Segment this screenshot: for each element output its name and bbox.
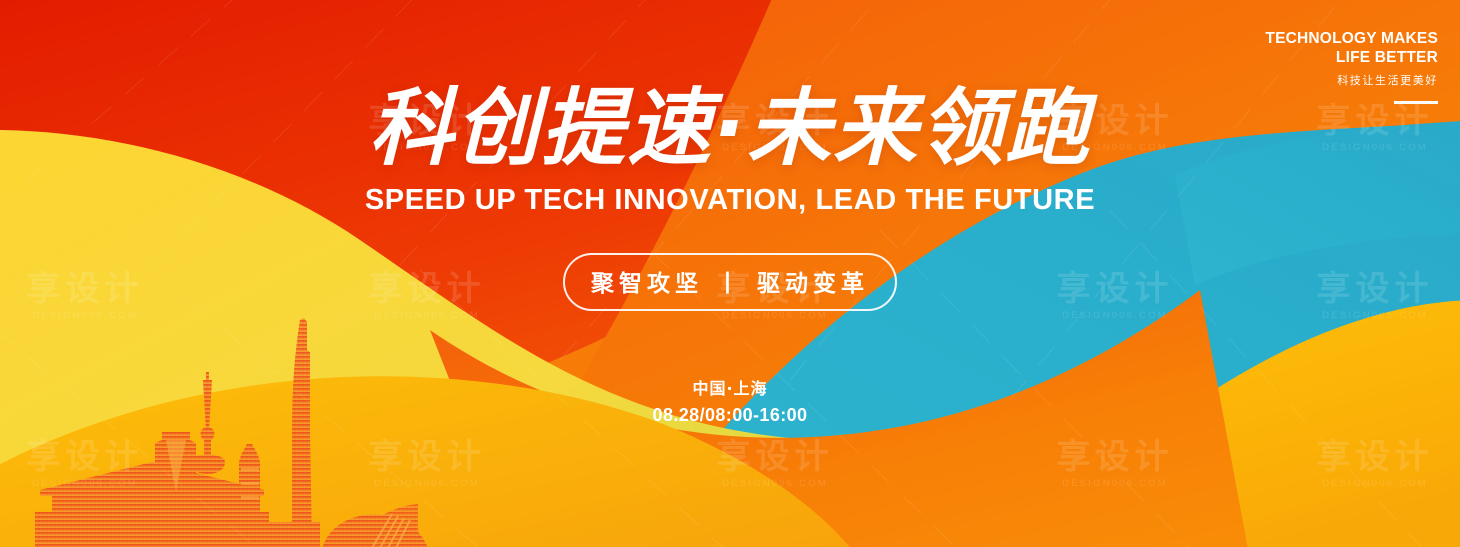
promo-poster: 享设计 DESIGN006.COM 享设计 DESIGN006.COM 享设计 … <box>0 0 1460 547</box>
page-title: 科创提速·未来领跑 <box>0 86 1460 172</box>
event-meta: 中国·上海 08.28/08:00-16:00 <box>0 377 1460 428</box>
brand-tagline-line1: TECHNOLOGY MAKES <box>1265 30 1438 49</box>
page-subtitle: SPEED UP TECH INNOVATION, LEAD THE FUTUR… <box>0 184 1460 217</box>
brand-tagline-line2: LIFE BETTER <box>1265 49 1438 68</box>
event-datetime: 08.28/08:00-16:00 <box>0 402 1460 428</box>
event-location: 中国·上海 <box>0 377 1460 400</box>
headline-block: 科创提速·未来领跑 SPEED UP TECH INNOVATION, LEAD… <box>0 86 1460 428</box>
slogan-pill: 聚智攻坚 丨 驱动变革 <box>563 253 897 311</box>
